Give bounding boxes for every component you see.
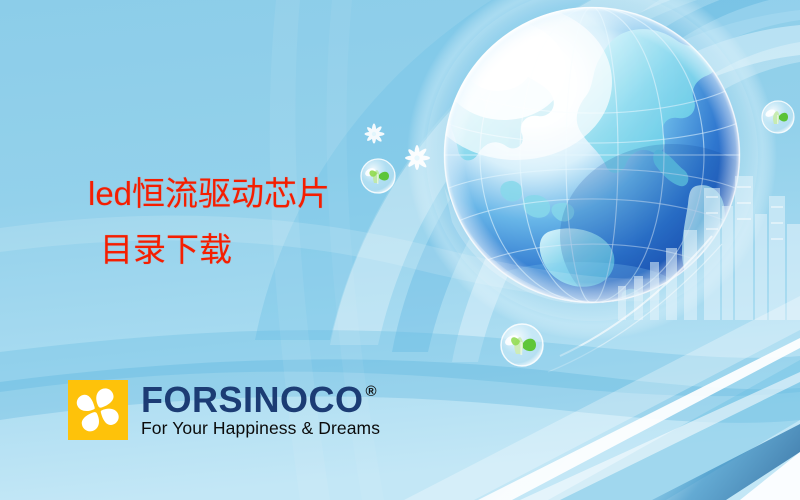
logo-tagline: For Your Happiness & Dreams <box>141 419 380 437</box>
logo-name: FORSINOCO <box>141 383 364 417</box>
logo-wordmark: FORSINOCO ® <box>141 383 380 417</box>
four-petal-pinwheel-icon <box>68 380 128 440</box>
headline-line-2: 目录下载 <box>88 222 330 278</box>
logo-text-block: FORSINOCO ® For Your Happiness & Dreams <box>141 383 380 438</box>
promo-banner: led恒流驱动芯片 目录下载 FORSINOCO ® For Your Happ… <box>0 0 800 500</box>
headline-line-1: led恒流驱动芯片 <box>88 175 330 212</box>
registered-trademark-icon: ® <box>366 384 377 399</box>
headline: led恒流驱动芯片 目录下载 <box>88 166 330 278</box>
company-logo[interactable]: FORSINOCO ® For Your Happiness & Dreams <box>68 380 380 440</box>
